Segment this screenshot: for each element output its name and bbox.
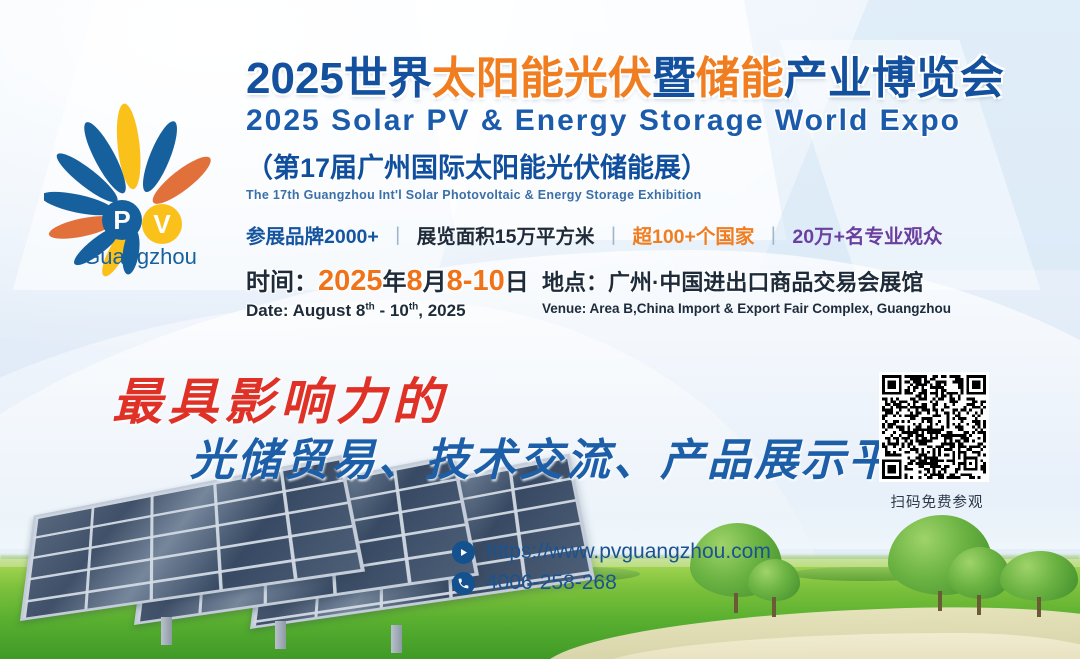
- stat-area: 展览面积15万平方米: [417, 220, 595, 249]
- title-part-4: 产业博览会: [784, 54, 1004, 103]
- date-month: 8: [407, 265, 423, 297]
- phone-circle-icon: [452, 572, 475, 595]
- stat-separator: 丨: [603, 220, 623, 249]
- title-part-0: 2025世界: [246, 54, 432, 103]
- venue-chinese: 地点：广州·中国进出口商品交易会展馆: [542, 265, 951, 297]
- date-days: 8-10: [447, 265, 505, 297]
- solar-panel-array: [20, 491, 326, 621]
- title-english: 2025 Solar PV & Energy Storage World Exp…: [246, 104, 1046, 138]
- date-year: 2025: [318, 265, 383, 297]
- tree: [1000, 551, 1078, 601]
- date-en-suffix: , 2025: [418, 301, 465, 320]
- title-chinese: 2025世界太阳能光伏暨储能产业博览会: [246, 56, 1046, 102]
- date-day-unit: 日: [505, 269, 529, 296]
- venue-english: Venue: Area B,China Import & Export Fair…: [542, 301, 951, 316]
- phone-number[interactable]: 4006-258-268: [486, 571, 617, 595]
- qr-block: 扫码免费参观: [879, 372, 995, 512]
- expo-poster: P V Guangzhou 2025世界太阳能光伏暨储能产业博览会 2025 S…: [0, 0, 1080, 659]
- event-meta: 时间：2025年8月8-10日 Date: August 8th - 10th,…: [246, 263, 1046, 321]
- date-en-prefix: Date: August 8: [246, 301, 365, 320]
- date-english: Date: August 8th - 10th, 2025: [246, 301, 542, 321]
- date-en-sup-1: th: [365, 302, 374, 313]
- subtitle-chinese: （第17届广州国际太阳能光伏储能展）: [246, 146, 1046, 185]
- date-year-unit: 年: [383, 269, 407, 296]
- date-en-sup-2: th: [409, 302, 418, 313]
- logo-letter-v: V: [153, 209, 171, 239]
- stat-visitors: 20万+名专业观众: [792, 220, 942, 249]
- qr-caption: 扫码免费参观: [879, 491, 995, 512]
- logo-letter-p: P: [113, 205, 130, 235]
- stat-brands: 参展品牌2000+: [246, 220, 379, 249]
- contact-block: https://www.pvguangzhou.com 4006-258-268: [452, 540, 771, 602]
- stat-separator: 丨: [388, 220, 408, 249]
- website-url[interactable]: https://www.pvguangzhou.com: [486, 540, 771, 564]
- date-month-unit: 月: [423, 269, 447, 296]
- stats-row: 参展品牌2000+ 丨 展览面积15万平方米 丨 超100+个国家 丨 20万+…: [246, 220, 1046, 249]
- subtitle-english: The 17th Guangzhou Int'l Solar Photovolt…: [246, 188, 1046, 202]
- website-row[interactable]: https://www.pvguangzhou.com: [452, 540, 771, 564]
- qr-code[interactable]: [879, 372, 989, 482]
- title-part-2: 暨: [652, 54, 696, 103]
- logo-sunburst-icon: P V Guangzhou: [44, 98, 234, 278]
- play-circle-icon: [452, 541, 475, 564]
- stat-separator: 丨: [763, 220, 783, 249]
- solar-panel-array-group: [12, 474, 482, 649]
- stat-countries: 超100+个国家: [632, 220, 754, 249]
- slogan-line-2: 光储贸易、技术交流、产品展示平台!: [190, 424, 962, 488]
- date-chinese: 时间：2025年8月8-10日: [246, 263, 542, 299]
- date-en-mid: - 10: [375, 301, 409, 320]
- logo-city-label: Guangzhou: [83, 244, 197, 269]
- title-part-1: 太阳能光伏: [432, 54, 652, 103]
- poster-text-block: 2025世界太阳能光伏暨储能产业博览会 2025 Solar PV & Ener…: [246, 56, 1046, 321]
- venue-block: 地点：广州·中国进出口商品交易会展馆 Venue: Area B,China I…: [542, 263, 951, 316]
- phone-row[interactable]: 4006-258-268: [452, 571, 771, 595]
- title-part-3: 储能: [696, 54, 784, 103]
- date-block: 时间：2025年8月8-10日 Date: August 8th - 10th,…: [246, 263, 542, 321]
- date-label: 时间：: [246, 269, 318, 296]
- pv-guangzhou-logo: P V Guangzhou: [44, 98, 234, 278]
